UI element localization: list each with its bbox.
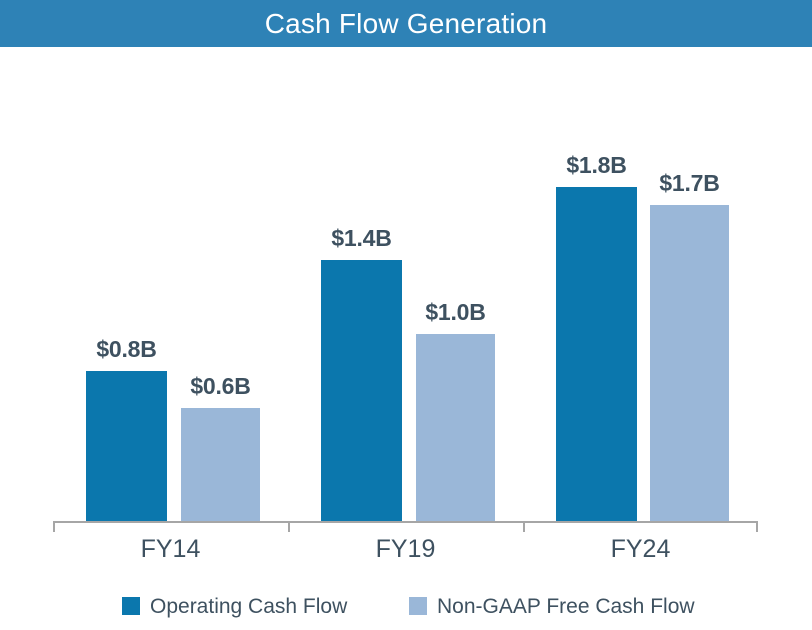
- legend-swatch-icon-operating-cash-flow: [122, 597, 140, 615]
- bar-fy24-non-gaap-free-cash-flow[interactable]: [650, 205, 729, 521]
- axis-tick-start: [53, 521, 55, 532]
- category-label-fy24: FY24: [523, 535, 758, 564]
- bar-label-fy14-operating-cash-flow: $0.8B: [86, 336, 167, 363]
- bar-chart: $0.8B $0.6B FY14 $1.4B $1.0B FY19 $1.8B …: [0, 47, 812, 630]
- page-title: Cash Flow Generation: [265, 10, 548, 38]
- bar-label-fy14-non-gaap-free-cash-flow: $0.6B: [181, 373, 260, 400]
- bar-label-fy24-operating-cash-flow: $1.8B: [556, 152, 637, 179]
- bar-label-fy19-operating-cash-flow: $1.4B: [321, 225, 402, 252]
- category-label-fy19: FY19: [288, 535, 523, 564]
- bar-fy14-operating-cash-flow[interactable]: [86, 371, 167, 521]
- bar-label-fy19-non-gaap-free-cash-flow: $1.0B: [416, 299, 495, 326]
- category-label-fy14: FY14: [53, 535, 288, 564]
- slide-canvas: Cash Flow Generation $0.8B $0.6B FY14 $1…: [0, 0, 812, 630]
- category-axis-line: [53, 521, 758, 523]
- axis-tick-end: [756, 521, 758, 532]
- bar-fy24-operating-cash-flow[interactable]: [556, 187, 637, 521]
- legend-label-operating-cash-flow: Operating Cash Flow: [150, 596, 347, 617]
- chart-legend: Operating Cash Flow Non-GAAP Free Cash F…: [0, 595, 812, 619]
- legend-item-non-gaap-free-cash-flow[interactable]: Non-GAAP Free Cash Flow: [409, 595, 695, 617]
- legend-item-operating-cash-flow[interactable]: Operating Cash Flow: [122, 595, 347, 617]
- bar-label-fy24-non-gaap-free-cash-flow: $1.7B: [650, 170, 729, 197]
- legend-swatch-icon-non-gaap-free-cash-flow: [409, 597, 427, 615]
- bar-fy19-non-gaap-free-cash-flow[interactable]: [416, 334, 495, 521]
- title-banner: Cash Flow Generation: [0, 0, 812, 47]
- bar-fy14-non-gaap-free-cash-flow[interactable]: [181, 408, 260, 521]
- axis-tick-2: [523, 521, 525, 532]
- bar-fy19-operating-cash-flow[interactable]: [321, 260, 402, 521]
- legend-label-non-gaap-free-cash-flow: Non-GAAP Free Cash Flow: [437, 596, 695, 617]
- axis-tick-1: [288, 521, 290, 532]
